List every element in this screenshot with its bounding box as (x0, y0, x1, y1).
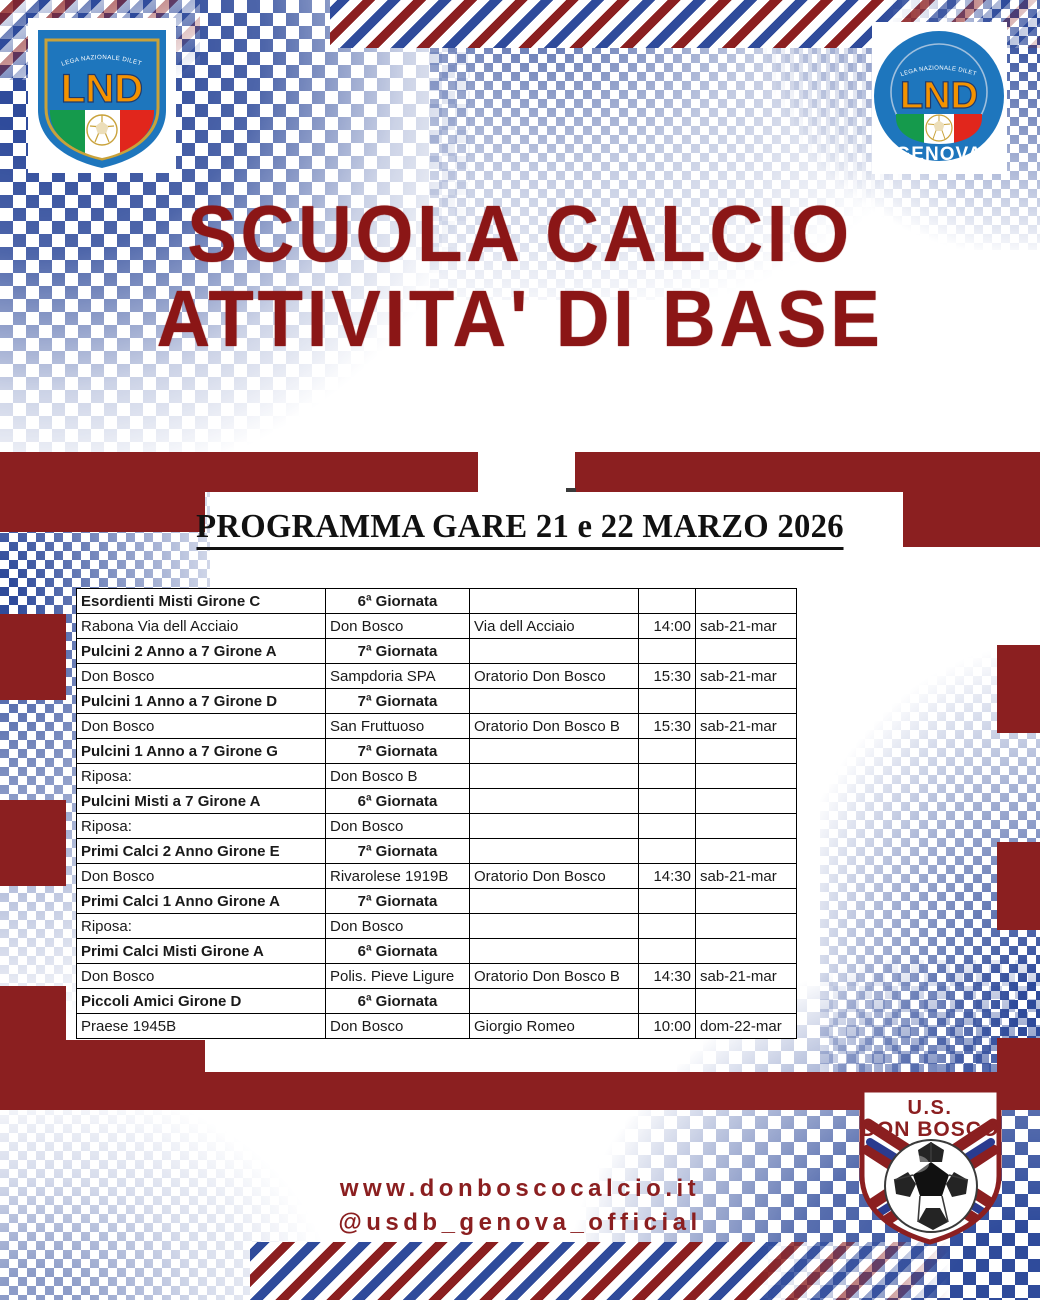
category-day (696, 789, 797, 814)
halftone-pattern-right-middle (820, 640, 1040, 1110)
schedule-match-row: Praese 1945BDon BoscoGiorgio Romeo10:00d… (77, 1014, 797, 1039)
category-time (639, 589, 696, 614)
category-name: Primi Calci 2 Anno Girone E (77, 839, 326, 864)
category-round: 7ª Giornata (326, 639, 470, 664)
schedule-category-row: Pulcini Misti a 7 Girone A6ª Giornata (77, 789, 797, 814)
category-round: 6ª Giornata (326, 589, 470, 614)
lnd-genova-acronym: LND (900, 75, 978, 117)
match-day: dom-22-mar (696, 1014, 797, 1039)
category-time (639, 839, 696, 864)
match-away: Rivarolese 1919B (326, 864, 470, 889)
frame-block-left-2 (0, 800, 66, 886)
category-day (696, 989, 797, 1014)
category-round: 6ª Giornata (326, 789, 470, 814)
match-away: Sampdoria SPA (326, 664, 470, 689)
category-day (696, 939, 797, 964)
don-bosco-line-2: DON BOSCO (861, 1118, 1000, 1141)
schedule-match-row: Riposa:Don Bosco B (77, 764, 797, 789)
match-home: Praese 1945B (77, 1014, 326, 1039)
category-time (639, 939, 696, 964)
category-time (639, 989, 696, 1014)
schedule-table: Esordienti Misti Girone C6ª GiornataRabo… (76, 588, 797, 1039)
match-home: Rabona Via dell Acciaio (77, 614, 326, 639)
category-venue (470, 739, 639, 764)
match-home: Don Bosco (77, 864, 326, 889)
match-time: 15:30 (639, 664, 696, 689)
category-round: 7ª Giornata (326, 689, 470, 714)
category-day (696, 589, 797, 614)
match-day: sab-21-mar (696, 864, 797, 889)
match-away: Don Bosco (326, 614, 470, 639)
frame-block-bottom-left (0, 1040, 205, 1110)
match-day (696, 764, 797, 789)
match-home: Riposa: (77, 764, 326, 789)
match-day (696, 814, 797, 839)
category-venue (470, 789, 639, 814)
schedule-category-row: Piccoli Amici Girone D6ª Giornata (77, 989, 797, 1014)
frame-block-left-1 (0, 614, 66, 700)
match-away: Don Bosco (326, 814, 470, 839)
poster-title: SCUOLA CALCIO ATTIVITA' DI BASE (0, 192, 1040, 362)
schedule-table-body: Esordienti Misti Girone C6ª GiornataRabo… (77, 589, 797, 1039)
footer-links: www.donboscocalcio.it @usdb_genova_offic… (0, 1172, 1040, 1240)
schedule-category-row: Pulcini 2 Anno a 7 Girone A7ª Giornata (77, 639, 797, 664)
category-name: Pulcini 1 Anno a 7 Girone G (77, 739, 326, 764)
match-time: 14:30 (639, 964, 696, 989)
programma-heading-text: PROGRAMMA GARE 21 e 22 MARZO 2026 (196, 508, 844, 550)
match-day: sab-21-mar (696, 664, 797, 689)
category-time (639, 689, 696, 714)
category-day (696, 839, 797, 864)
match-home: Don Bosco (77, 714, 326, 739)
category-name: Pulcini 2 Anno a 7 Girone A (77, 639, 326, 664)
category-venue (470, 889, 639, 914)
match-time: 14:00 (639, 614, 696, 639)
schedule-category-row: Primi Calci 2 Anno Girone E7ª Giornata (77, 839, 797, 864)
schedule-match-row: Don BoscoRivarolese 1919BOratorio Don Bo… (77, 864, 797, 889)
category-name: Piccoli Amici Girone D (77, 989, 326, 1014)
match-time (639, 764, 696, 789)
website-link[interactable]: www.donboscocalcio.it (0, 1172, 1040, 1206)
category-venue (470, 989, 639, 1014)
match-venue: Oratorio Don Bosco (470, 864, 639, 889)
category-name: Pulcini 1 Anno a 7 Girone D (77, 689, 326, 714)
match-venue: Oratorio Don Bosco B (470, 964, 639, 989)
frame-block-top-gap (575, 452, 1040, 492)
match-day: sab-21-mar (696, 964, 797, 989)
schedule-category-row: Pulcini 1 Anno a 7 Girone D7ª Giornata (77, 689, 797, 714)
schedule-table-wrapper: Esordienti Misti Girone C6ª GiornataRabo… (76, 588, 766, 1039)
category-name: Primi Calci 1 Anno Girone A (77, 889, 326, 914)
category-round: 7ª Giornata (326, 739, 470, 764)
category-day (696, 739, 797, 764)
match-day: sab-21-mar (696, 614, 797, 639)
match-venue: Giorgio Romeo (470, 1014, 639, 1039)
match-venue (470, 914, 639, 939)
category-name: Primi Calci Misti Girone A (77, 939, 326, 964)
category-name: Pulcini Misti a 7 Girone A (77, 789, 326, 814)
match-home: Riposa: (77, 914, 326, 939)
stripe-band-bottom (250, 1242, 950, 1300)
don-bosco-line-1: U.S. (908, 1097, 953, 1119)
lnd-genova-subtitle: GENOVA (896, 144, 983, 165)
lnd-acronym: LND (61, 67, 143, 111)
title-line-2: ATTIVITA' DI BASE (36, 277, 1003, 362)
frame-block-top-center (0, 452, 478, 492)
category-venue (470, 939, 639, 964)
title-line-1: SCUOLA CALCIO (36, 192, 1003, 277)
match-home: Don Bosco (77, 664, 326, 689)
match-venue: Via dell Acciaio (470, 614, 639, 639)
schedule-match-row: Don BoscoSan FruttuosoOratorio Don Bosco… (77, 714, 797, 739)
category-day (696, 689, 797, 714)
schedule-category-row: Primi Calci 1 Anno Girone A7ª Giornata (77, 889, 797, 914)
match-home: Don Bosco (77, 964, 326, 989)
match-venue (470, 764, 639, 789)
category-time (639, 789, 696, 814)
programma-heading: PROGRAMMA GARE 21 e 22 MARZO 2026 (21, 508, 1019, 550)
category-name: Esordienti Misti Girone C (77, 589, 326, 614)
category-round: 7ª Giornata (326, 889, 470, 914)
heading-artifact-mark (566, 488, 576, 492)
category-time (639, 639, 696, 664)
schedule-match-row: Rabona Via dell AcciaioDon BoscoVia dell… (77, 614, 797, 639)
category-round: 7ª Giornata (326, 839, 470, 864)
match-day: sab-21-mar (696, 714, 797, 739)
match-away: San Fruttuoso (326, 714, 470, 739)
match-time (639, 814, 696, 839)
match-away: Don Bosco (326, 914, 470, 939)
schedule-match-row: Riposa:Don Bosco (77, 814, 797, 839)
match-away: Don Bosco B (326, 764, 470, 789)
lnd-genova-logo: FIGC LEGA NAZIONALE DILETTANTI LND GENOV… (872, 22, 1007, 174)
frame-block-left-3 (0, 986, 66, 1072)
category-time (639, 889, 696, 914)
category-day (696, 639, 797, 664)
match-time (639, 914, 696, 939)
lnd-shield-logo: FIGC LEGA NAZIONALE DILETTANTI LND (28, 18, 176, 173)
match-home: Riposa: (77, 814, 326, 839)
poster-canvas: FIGC LEGA NAZIONALE DILETTANTI LND (0, 0, 1040, 1300)
instagram-handle[interactable]: @usdb_genova_official (0, 1206, 1040, 1240)
match-day (696, 914, 797, 939)
category-venue (470, 639, 639, 664)
category-venue (470, 689, 639, 714)
schedule-match-row: Riposa:Don Bosco (77, 914, 797, 939)
frame-block-right-1 (997, 645, 1040, 733)
match-venue (470, 814, 639, 839)
match-time: 10:00 (639, 1014, 696, 1039)
match-time: 14:30 (639, 864, 696, 889)
match-away: Don Bosco (326, 1014, 470, 1039)
category-time (639, 739, 696, 764)
schedule-category-row: Primi Calci Misti Girone A6ª Giornata (77, 939, 797, 964)
category-round: 6ª Giornata (326, 989, 470, 1014)
schedule-category-row: Pulcini 1 Anno a 7 Girone G7ª Giornata (77, 739, 797, 764)
match-time: 15:30 (639, 714, 696, 739)
category-round: 6ª Giornata (326, 939, 470, 964)
category-day (696, 889, 797, 914)
match-venue: Oratorio Don Bosco (470, 664, 639, 689)
category-venue (470, 589, 639, 614)
schedule-match-row: Don BoscoPolis. Pieve LigureOratorio Don… (77, 964, 797, 989)
category-venue (470, 839, 639, 864)
schedule-category-row: Esordienti Misti Girone C6ª Giornata (77, 589, 797, 614)
match-away: Polis. Pieve Ligure (326, 964, 470, 989)
match-venue: Oratorio Don Bosco B (470, 714, 639, 739)
schedule-match-row: Don BoscoSampdoria SPAOratorio Don Bosco… (77, 664, 797, 689)
frame-block-right-2 (997, 842, 1040, 930)
